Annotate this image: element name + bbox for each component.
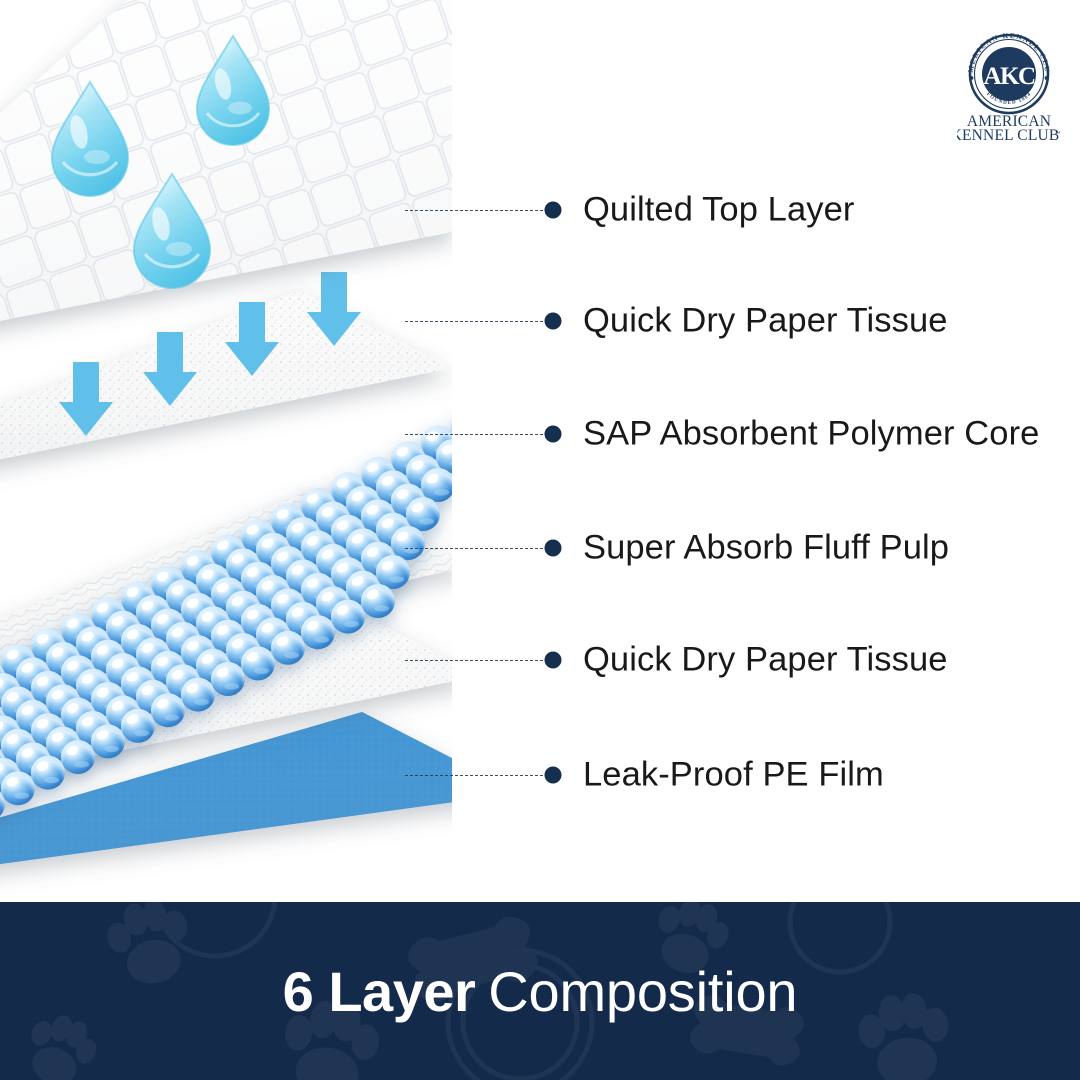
infographic-canvas: AMERICAN KENNEL CLUB FOUNDED 1884 AKC AM… <box>0 0 1080 1080</box>
callout-dot <box>545 652 562 669</box>
sap-bead <box>181 678 215 712</box>
sap-bead <box>151 693 185 727</box>
akc-logo: AMERICAN KENNEL CLUB FOUNDED 1884 AKC AM… <box>957 22 1061 142</box>
sap-bead <box>241 646 275 680</box>
banner-title: 6 Layer Composition <box>0 902 1080 1080</box>
callout-leader-line <box>405 434 553 435</box>
sap-bead <box>1 771 35 805</box>
sap-bead <box>211 662 245 696</box>
sap-bead <box>391 526 425 560</box>
callout-label: Leak-Proof PE Film <box>583 756 884 795</box>
sap-bead <box>361 584 395 618</box>
callout-dot <box>545 767 562 784</box>
callout-leader-line <box>405 775 553 776</box>
callout-leader-line <box>405 210 553 211</box>
seal-monogram: AKC <box>983 63 1035 90</box>
sap-bead <box>271 631 305 665</box>
sap-bead <box>121 709 155 743</box>
wordmark-line2: KENNEL CLUB <box>957 127 1059 142</box>
callout-label: Super Absorb Fluff Pulp <box>583 529 949 568</box>
sap-bead <box>406 497 440 531</box>
sap-bead <box>91 724 125 758</box>
sap-bead <box>61 740 95 774</box>
callout-dot <box>545 540 562 557</box>
callout-dot <box>545 426 562 443</box>
banner-title-light: Composition <box>488 959 797 1024</box>
callout-label: Quick Dry Paper Tissue <box>583 302 948 341</box>
akc-seal: AMERICAN KENNEL CLUB FOUNDED 1884 AKC <box>957 22 1051 113</box>
banner-title-bold: 6 Layer <box>283 959 476 1024</box>
callout-label: SAP Absorbent Polymer Core <box>583 415 1039 454</box>
akc-wordmark: AMERICAN KENNEL CLUB ™ <box>957 113 1061 142</box>
trademark-symbol: ™ <box>1055 131 1061 137</box>
callout-dot <box>545 313 562 330</box>
sap-bead <box>301 615 335 649</box>
callout-leader-line <box>405 548 553 549</box>
bottom-banner: 6 Layer Composition <box>0 902 1080 1080</box>
callout-leader-line <box>405 321 553 322</box>
callout-label: Quilted Top Layer <box>583 191 854 230</box>
sap-bead <box>421 468 455 502</box>
sap-bead <box>331 600 365 634</box>
sap-bead <box>376 555 410 589</box>
callout-dot <box>545 202 562 219</box>
callout-leader-line <box>405 660 553 661</box>
sap-bead <box>31 756 65 790</box>
callout-label: Quick Dry Paper Tissue <box>583 641 948 680</box>
